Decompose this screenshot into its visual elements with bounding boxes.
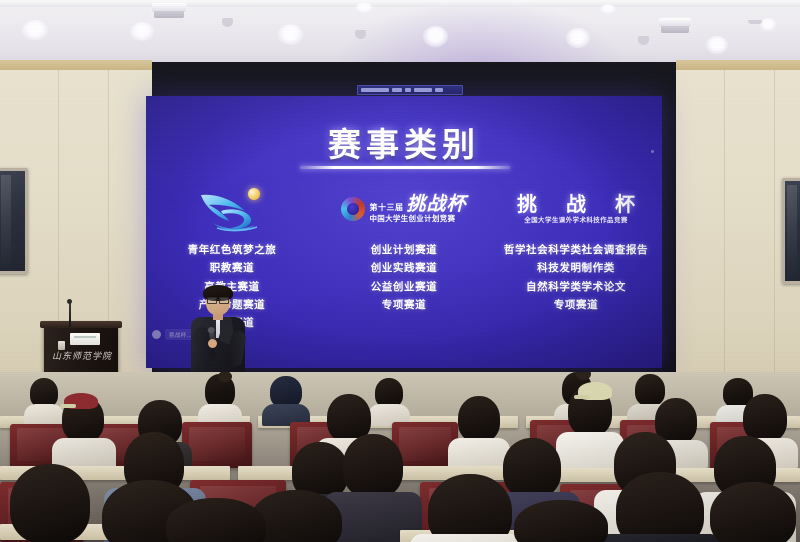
audience-head bbox=[743, 394, 787, 442]
podium-microphone-icon bbox=[69, 303, 71, 327]
audience-member bbox=[500, 500, 620, 542]
ceiling-speaker-icon bbox=[222, 18, 233, 27]
downlight bbox=[130, 22, 154, 41]
audience-head bbox=[458, 396, 500, 442]
speaker-hand bbox=[208, 339, 217, 348]
downlight bbox=[423, 26, 448, 47]
cap-icon bbox=[64, 393, 98, 409]
audience-body bbox=[198, 404, 242, 424]
lecture-hall-photo: 赛事类别 bbox=[0, 0, 800, 542]
wall-seam bbox=[724, 62, 725, 380]
downlight bbox=[600, 4, 616, 14]
ceiling-speaker-icon bbox=[355, 30, 366, 39]
ceiling-rail bbox=[0, 0, 800, 7]
audience-head bbox=[10, 464, 90, 542]
podium-nameplate: 山东师范学院 bbox=[52, 349, 112, 365]
downlight bbox=[566, 28, 590, 48]
ceiling-speaker-icon bbox=[638, 36, 649, 45]
audience-member bbox=[200, 374, 240, 422]
cap-icon bbox=[578, 382, 612, 400]
glasses-icon bbox=[207, 297, 229, 302]
ceiling bbox=[0, 0, 800, 66]
downlight bbox=[278, 24, 303, 45]
wall-display-panel bbox=[0, 168, 28, 274]
downlight bbox=[355, 2, 373, 13]
toolbar-segment[interactable] bbox=[405, 88, 411, 92]
ceiling-speaker-icon bbox=[748, 20, 762, 24]
toolbar-segment[interactable] bbox=[392, 88, 402, 92]
wall-display-panel bbox=[782, 178, 800, 284]
toolbar-segment[interactable] bbox=[361, 88, 389, 92]
wall-trim bbox=[0, 60, 152, 70]
podium-card bbox=[70, 333, 100, 345]
downlight bbox=[706, 36, 728, 54]
toolbar-segment[interactable] bbox=[435, 88, 443, 92]
audience-member bbox=[265, 376, 307, 422]
ceiling-panel-light bbox=[659, 18, 691, 27]
audience-head bbox=[166, 498, 266, 542]
toolbar-segment[interactable] bbox=[414, 88, 432, 92]
wall-trim bbox=[676, 60, 800, 70]
audience-head bbox=[514, 500, 608, 542]
audience-member bbox=[690, 482, 800, 542]
downlight bbox=[760, 18, 776, 31]
audience-area bbox=[0, 372, 800, 542]
ceiling-panel-light bbox=[152, 3, 186, 12]
presentation-toolbar[interactable] bbox=[357, 85, 463, 95]
audience-member bbox=[56, 396, 112, 468]
wall-seam bbox=[774, 62, 775, 380]
audience-head bbox=[343, 434, 403, 498]
audience-head bbox=[710, 482, 796, 542]
podium-top-surface bbox=[40, 321, 122, 328]
downlight bbox=[22, 20, 48, 40]
audience-member bbox=[150, 498, 280, 542]
